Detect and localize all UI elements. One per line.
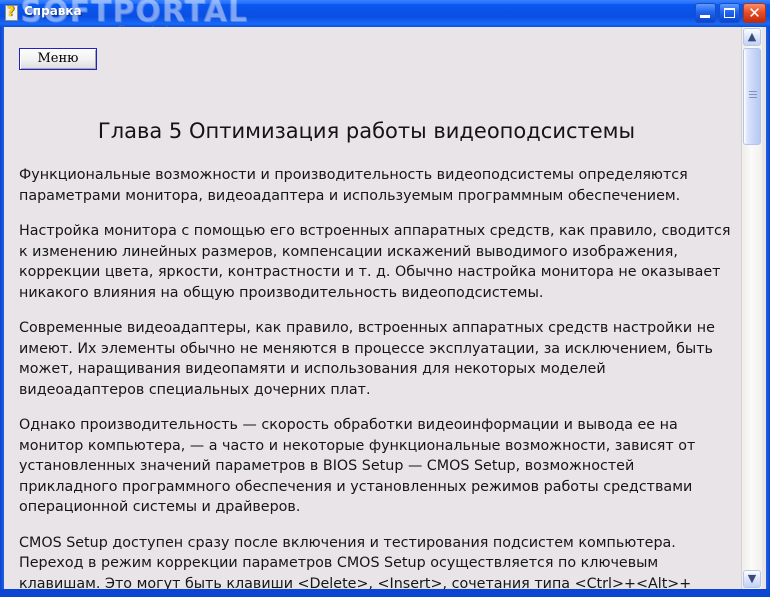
minimize-icon [700, 15, 710, 18]
title-bar[interactable]: ? Справка SOFTPORTAL www.softportal.com … [0, 0, 770, 27]
close-icon: ✕ [744, 4, 765, 22]
help-icon-question-mark: ? [7, 5, 15, 20]
vertical-scrollbar[interactable]: ▲ ▼ [741, 27, 762, 589]
window-border-right [766, 27, 770, 597]
chapter-heading: Глава 5 Оптимизация работы видеоподсисте… [4, 119, 729, 143]
document-body: Глава 5 Оптимизация работы видеоподсисте… [4, 27, 741, 589]
chevron-up-icon: ▲ [744, 29, 760, 45]
scrollbar-grip-icon [749, 91, 757, 100]
help-question-icon: ? [4, 5, 21, 22]
title-bar-highlight [0, 0, 770, 4]
paragraph: Настройка монитора с помощью его встроен… [19, 221, 735, 303]
client-area: Меню Глава 5 Оптимизация работы видеопод… [4, 27, 766, 589]
paragraph: Современные видеоадаптеры, как правило, … [19, 318, 735, 400]
paragraph-list: Функциональные возможности и производите… [19, 165, 735, 589]
paragraph: CMOS Setup доступен сразу после включени… [19, 533, 735, 590]
window-title: Справка [24, 4, 82, 18]
close-button[interactable]: ✕ [743, 3, 766, 23]
softportal-watermark: SOFTPORTAL www.softportal.com [20, 0, 440, 27]
scroll-up-button[interactable]: ▲ [743, 28, 761, 46]
paragraph: Функциональные возможности и производите… [19, 165, 735, 206]
minimize-button[interactable] [695, 3, 716, 23]
scroll-down-button[interactable]: ▼ [743, 570, 761, 588]
maximize-button[interactable] [719, 3, 740, 23]
help-window: ? Справка SOFTPORTAL www.softportal.com … [0, 0, 770, 597]
paragraph: Однако производительность — скорость обр… [19, 415, 735, 518]
chevron-down-icon: ▼ [744, 571, 760, 587]
window-border-bottom [0, 589, 770, 597]
scrollbar-thumb[interactable] [743, 48, 761, 145]
maximize-icon [724, 8, 735, 18]
